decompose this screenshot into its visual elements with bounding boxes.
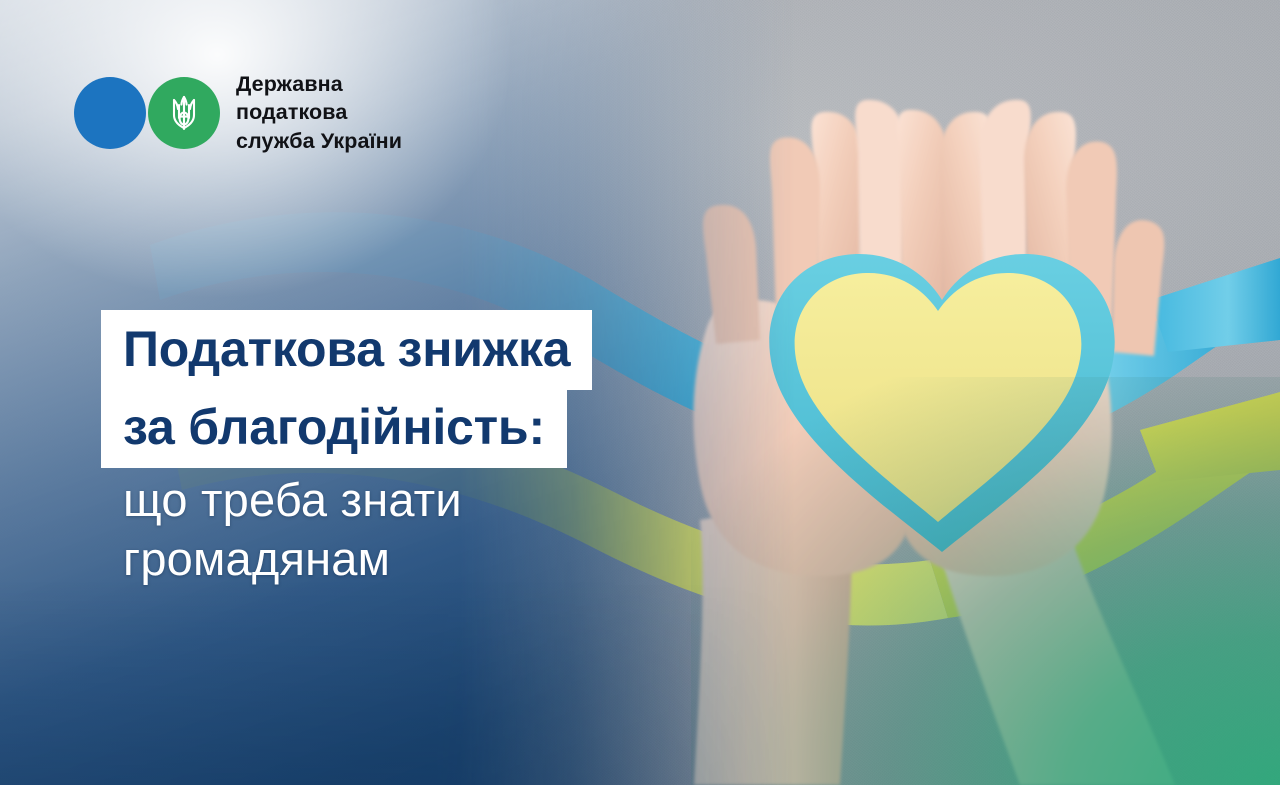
organization-name: Державна податкова служба України xyxy=(236,70,402,155)
bottom-shade-overlay xyxy=(0,581,1280,785)
green-circle-icon xyxy=(148,77,220,149)
headline-line-1: Податкова знижка xyxy=(101,310,592,390)
blue-circle-icon xyxy=(74,77,146,149)
headline-block: Податкова знижка за благодійність: xyxy=(101,310,592,468)
subheadline: що треба знати громадянам xyxy=(123,470,462,588)
logo-marks xyxy=(74,77,220,149)
promo-banner: Державна податкова служба України Податк… xyxy=(0,0,1280,785)
headline-line-2: за благодійність: xyxy=(101,388,567,468)
ukrainian-trident-icon xyxy=(167,91,201,135)
organization-logo: Державна податкова служба України xyxy=(74,70,402,155)
